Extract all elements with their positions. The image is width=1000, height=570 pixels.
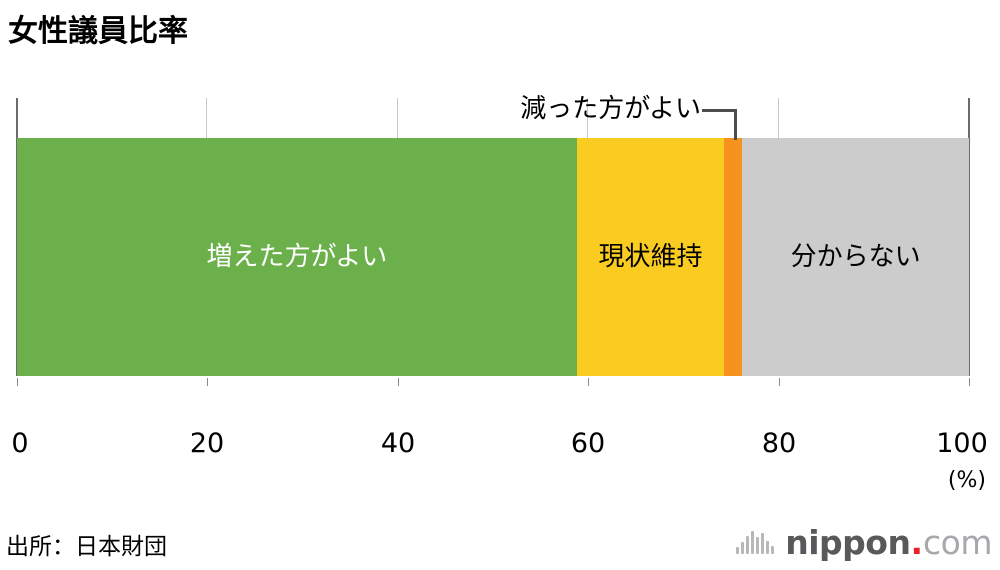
tick-label-20: 20 <box>190 428 224 459</box>
bar-segment-label-statusquo: 現状維持 <box>599 244 703 270</box>
bar-segment-statusquo[interactable]: 現状維持 <box>577 138 725 376</box>
bar-segment-label-unknown: 分からない <box>791 244 921 270</box>
tick-mark-40 <box>398 378 399 386</box>
brand-tld: com <box>923 526 992 559</box>
tick-label-60: 60 <box>571 428 605 459</box>
tick-label-100: 100 <box>936 428 988 459</box>
tick-mark-60 <box>588 378 589 386</box>
callout-decrease: 減った方がよい <box>480 96 740 140</box>
brand-logo[interactable]: nippon . com <box>736 524 992 560</box>
bar-segment-decrease[interactable] <box>724 138 742 376</box>
tick-label-80: 80 <box>762 428 796 459</box>
callout-leader-vertical <box>734 109 737 140</box>
bar-segment-label-increase: 増えた方がよい <box>207 244 388 270</box>
tick-mark-80 <box>779 378 780 386</box>
tick-mark-20 <box>207 378 208 386</box>
brand-dot: . <box>910 526 923 559</box>
bar-segment-increase[interactable]: 増えた方がよい <box>17 138 577 376</box>
callout-decrease-label: 減った方がよい <box>520 96 701 123</box>
brand-name: nippon <box>785 526 910 559</box>
tick-label-0: 0 <box>11 428 28 459</box>
sound-wave-icon <box>736 530 776 554</box>
axis-unit-label: (%) <box>948 468 986 493</box>
tick-mark-0 <box>17 378 18 386</box>
page-title: 女性議員比率 <box>8 6 188 50</box>
tick-label-40: 40 <box>381 428 415 459</box>
callout-leader-horizontal <box>702 109 737 112</box>
tick-mark-100 <box>969 378 970 386</box>
source-note: 出所：日本財団 <box>6 527 167 561</box>
bar-segment-unknown[interactable]: 分からない <box>742 138 969 376</box>
stacked-bar: 増えた方がよい 現状維持 分からない <box>17 138 969 376</box>
